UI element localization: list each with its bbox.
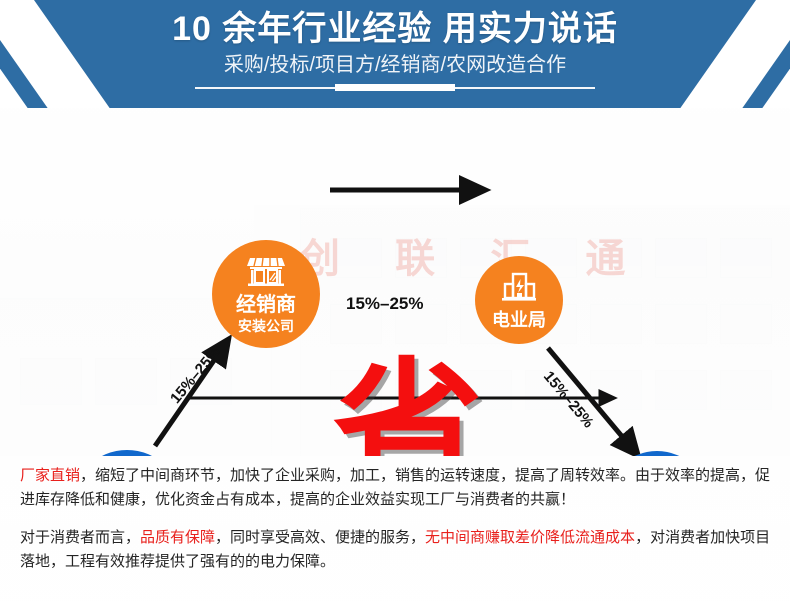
footer-highlight-no-middleman: 无中间商赚取差价降低流通成本	[425, 529, 635, 546]
footer-paragraph-2: 对于消费者而言，品质有保障，同时享受高效、便捷的服务，无中间商赚取差价降低流通成…	[20, 526, 772, 574]
flow-diagram: 创 联 汇 通 省 15%–25% 15%–25% 15%–25% 在这里省了中…	[0, 108, 790, 456]
node-power-bureau[interactable]: 电业局	[475, 256, 563, 344]
header-title: 10 余年行业经验 用实力说话	[172, 9, 618, 49]
node-power-bureau-label: 电业局	[492, 311, 546, 329]
header-banner: 10 余年行业经验 用实力说话 采购/投标/项目方/经销商/农网改造合作	[0, 0, 790, 108]
footer-paragraph-1-rest: ，缩短了中间商环节，加快了企业采购，加工，销售的运转速度，提高了周转效率。由于效…	[20, 467, 770, 508]
header-subtitle: 采购/投标/项目方/经销商/农网改造合作	[224, 52, 566, 78]
footer-highlight-quality-guarantee: 品质有保障	[140, 529, 215, 546]
power-building-icon	[501, 272, 537, 307]
big-save-character: 省	[333, 356, 483, 456]
node-dealer-sublabel: 安装公司	[238, 319, 294, 333]
shop-icon	[246, 256, 286, 291]
header-divider	[195, 84, 595, 91]
header-content: 10 余年行业经验 用实力说话 采购/投标/项目方/经销商/农网改造合作	[0, 0, 790, 108]
footer-description: 厂家直销，缩短了中间商环节，加快了企业采购，加工，销售的运转速度，提高了周转效率…	[0, 456, 790, 602]
node-dealer[interactable]: 经销商 安装公司	[212, 240, 320, 348]
arrow-label-dealer-to-power: 15%–25%	[346, 294, 424, 314]
footer-highlight-manufacturer-direct: 厂家直销	[20, 467, 80, 484]
footer-paragraph-2-part1: 对于消费者而言，	[20, 529, 140, 546]
footer-paragraph-2-part2: ，同时享受高效、便捷的服务，	[215, 529, 425, 546]
footer-paragraph-1: 厂家直销，缩短了中间商环节，加快了企业采购，加工，销售的运转速度，提高了周转效率…	[20, 464, 772, 512]
node-dealer-label: 经销商	[236, 295, 296, 315]
promo-banner-page: 10 余年行业经验 用实力说话 采购/投标/项目方/经销商/农网改造合作	[0, 0, 790, 602]
header-divider-center-block	[335, 84, 455, 91]
